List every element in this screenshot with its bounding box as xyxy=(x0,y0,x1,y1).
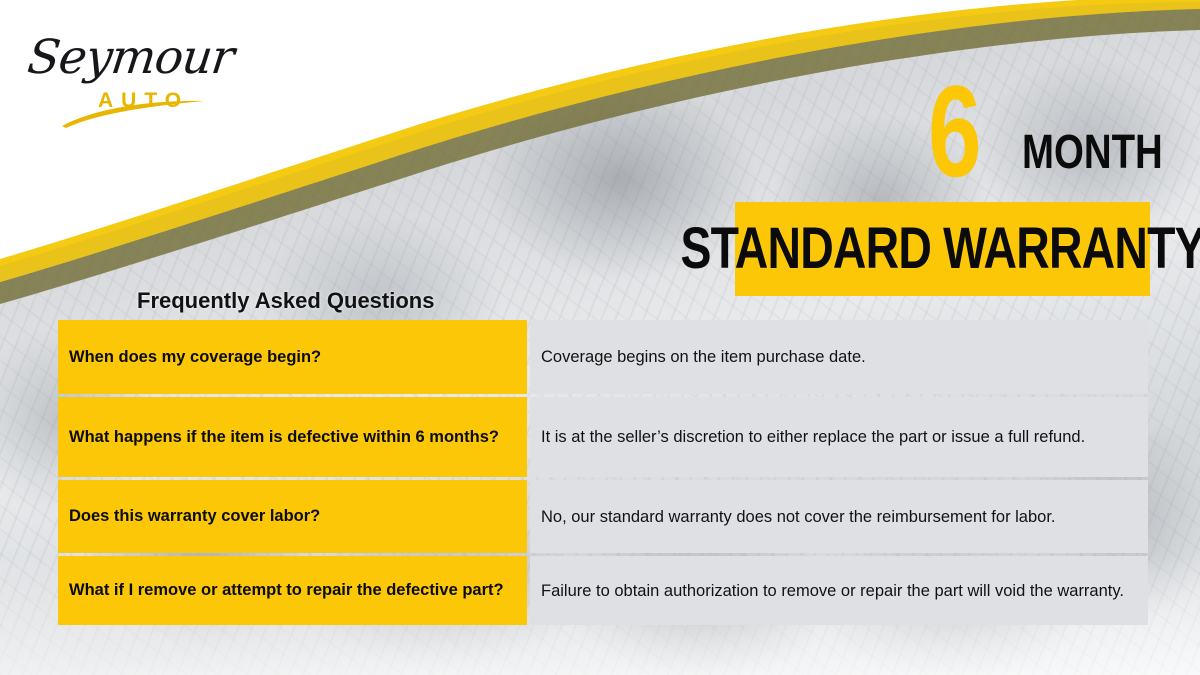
faq-answer-text: It is at the seller’s discretion to eith… xyxy=(541,426,1137,448)
duration-number: 6 xyxy=(928,66,980,196)
faq-question-text: When does my coverage begin? xyxy=(69,347,321,368)
table-row: What if I remove or attempt to repair th… xyxy=(58,556,1148,625)
faq-answer-cell: No, our standard warranty does not cover… xyxy=(530,480,1148,553)
table-row: When does my coverage begin? Coverage be… xyxy=(58,320,1148,394)
faq-question-cell: Does this warranty cover labor? xyxy=(58,480,527,553)
logo-script-text: Seymour xyxy=(25,30,237,85)
duration-unit-label: MONTH xyxy=(1022,129,1163,177)
faq-answer-cell: Failure to obtain authorization to remov… xyxy=(530,556,1148,625)
faq-question-cell: What happens if the item is defective wi… xyxy=(58,397,527,477)
faq-question-text: Does this warranty cover labor? xyxy=(69,506,320,527)
faq-question-text: What if I remove or attempt to repair th… xyxy=(69,580,504,601)
faq-answer-cell: It is at the seller’s discretion to eith… xyxy=(530,397,1148,477)
faq-heading: Frequently Asked Questions xyxy=(137,288,434,314)
faq-question-cell: When does my coverage begin? xyxy=(58,320,527,394)
faq-table: When does my coverage begin? Coverage be… xyxy=(58,320,1148,622)
faq-question-cell: What if I remove or attempt to repair th… xyxy=(58,556,527,625)
faq-answer-text: Failure to obtain authorization to remov… xyxy=(541,580,1137,602)
table-row: Does this warranty cover labor? No, our … xyxy=(58,480,1148,553)
standard-warranty-banner: STANDARD WARRANTY xyxy=(735,202,1150,296)
faq-answer-text: No, our standard warranty does not cover… xyxy=(541,506,1137,528)
warranty-slide: Seymour AUTO 6 MONTH STANDARD WARRANTY F… xyxy=(0,0,1200,675)
faq-answer-text: Coverage begins on the item purchase dat… xyxy=(541,346,1137,368)
logo-auto-text: AUTO xyxy=(98,89,189,113)
standard-warranty-text: STANDARD WARRANTY xyxy=(680,220,1200,278)
table-row: What happens if the item is defective wi… xyxy=(58,397,1148,477)
faq-answer-cell: Coverage begins on the item purchase dat… xyxy=(530,320,1148,394)
faq-question-text: What happens if the item is defective wi… xyxy=(69,427,499,448)
brand-logo[interactable]: Seymour AUTO xyxy=(22,26,232,130)
